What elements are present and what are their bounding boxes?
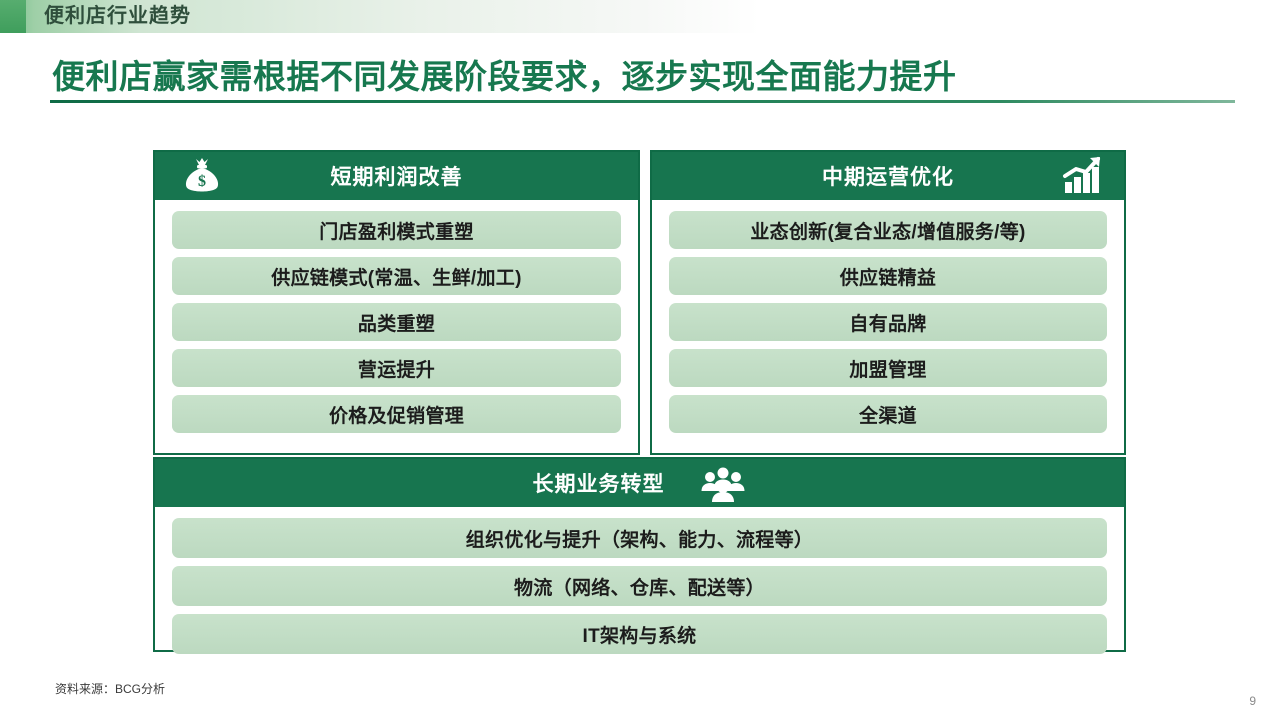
card-long-term-items: 组织优化与提升（架构、能力、流程等） 物流（网络、仓库、配送等） IT架构与系统 bbox=[155, 507, 1124, 666]
list-item[interactable]: 业态创新(复合业态/增值服务/等) bbox=[669, 211, 1107, 249]
card-short-term-title: 短期利润改善 bbox=[331, 161, 463, 191]
card-short-term-items: 门店盈利模式重塑 供应链模式(常温、生鲜/加工) 品类重塑 营运提升 价格及促销… bbox=[155, 200, 638, 445]
list-item[interactable]: 物流（网络、仓库、配送等） bbox=[172, 566, 1107, 606]
people-group-icon bbox=[699, 464, 747, 502]
section-tab-label: 便利店行业趋势 bbox=[44, 0, 191, 33]
list-item[interactable]: 加盟管理 bbox=[669, 349, 1107, 387]
svg-text:$: $ bbox=[198, 173, 206, 190]
card-mid-term-title: 中期运营优化 bbox=[822, 161, 954, 191]
title-divider bbox=[50, 100, 1235, 103]
card-short-term-header: $ 短期利润改善 bbox=[155, 152, 638, 200]
money-bag-icon: $ bbox=[179, 154, 225, 198]
card-mid-term-items: 业态创新(复合业态/增值服务/等) 供应链精益 自有品牌 加盟管理 全渠道 bbox=[652, 200, 1124, 445]
list-item[interactable]: 供应链模式(常温、生鲜/加工) bbox=[172, 257, 621, 295]
card-long-term: 长期业务转型 组织优化与提升（架构、能力、流程等） 物流（网络、仓库、配送等） … bbox=[153, 457, 1126, 652]
list-item[interactable]: 营运提升 bbox=[172, 349, 621, 387]
list-item[interactable]: IT架构与系统 bbox=[172, 614, 1107, 654]
page-number: 9 bbox=[1249, 694, 1256, 708]
card-long-term-title: 长期业务转型 bbox=[533, 468, 665, 498]
list-item[interactable]: 门店盈利模式重塑 bbox=[172, 211, 621, 249]
card-short-term: $ 短期利润改善 门店盈利模式重塑 供应链模式(常温、生鲜/加工) 品类重塑 营… bbox=[153, 150, 640, 455]
card-mid-term: 中期运营优化 业态创新(复合业态/增值服务/等) 供应链精益 自有品牌 加盟管理… bbox=[650, 150, 1126, 455]
growth-chart-icon bbox=[1060, 156, 1106, 196]
list-item[interactable]: 品类重塑 bbox=[172, 303, 621, 341]
list-item[interactable]: 全渠道 bbox=[669, 395, 1107, 433]
list-item[interactable]: 价格及促销管理 bbox=[172, 395, 621, 433]
card-long-term-header: 长期业务转型 bbox=[155, 459, 1124, 507]
card-mid-term-header: 中期运营优化 bbox=[652, 152, 1124, 200]
list-item[interactable]: 供应链精益 bbox=[669, 257, 1107, 295]
list-item[interactable]: 自有品牌 bbox=[669, 303, 1107, 341]
page-title: 便利店赢家需根据不同发展阶段要求，逐步实现全面能力提升 bbox=[52, 50, 957, 98]
section-tab-accent-bar bbox=[0, 0, 26, 33]
source-note: 资料来源：BCG分析 bbox=[55, 680, 165, 697]
list-item[interactable]: 组织优化与提升（架构、能力、流程等） bbox=[172, 518, 1107, 558]
section-tab: 便利店行业趋势 bbox=[0, 0, 760, 33]
